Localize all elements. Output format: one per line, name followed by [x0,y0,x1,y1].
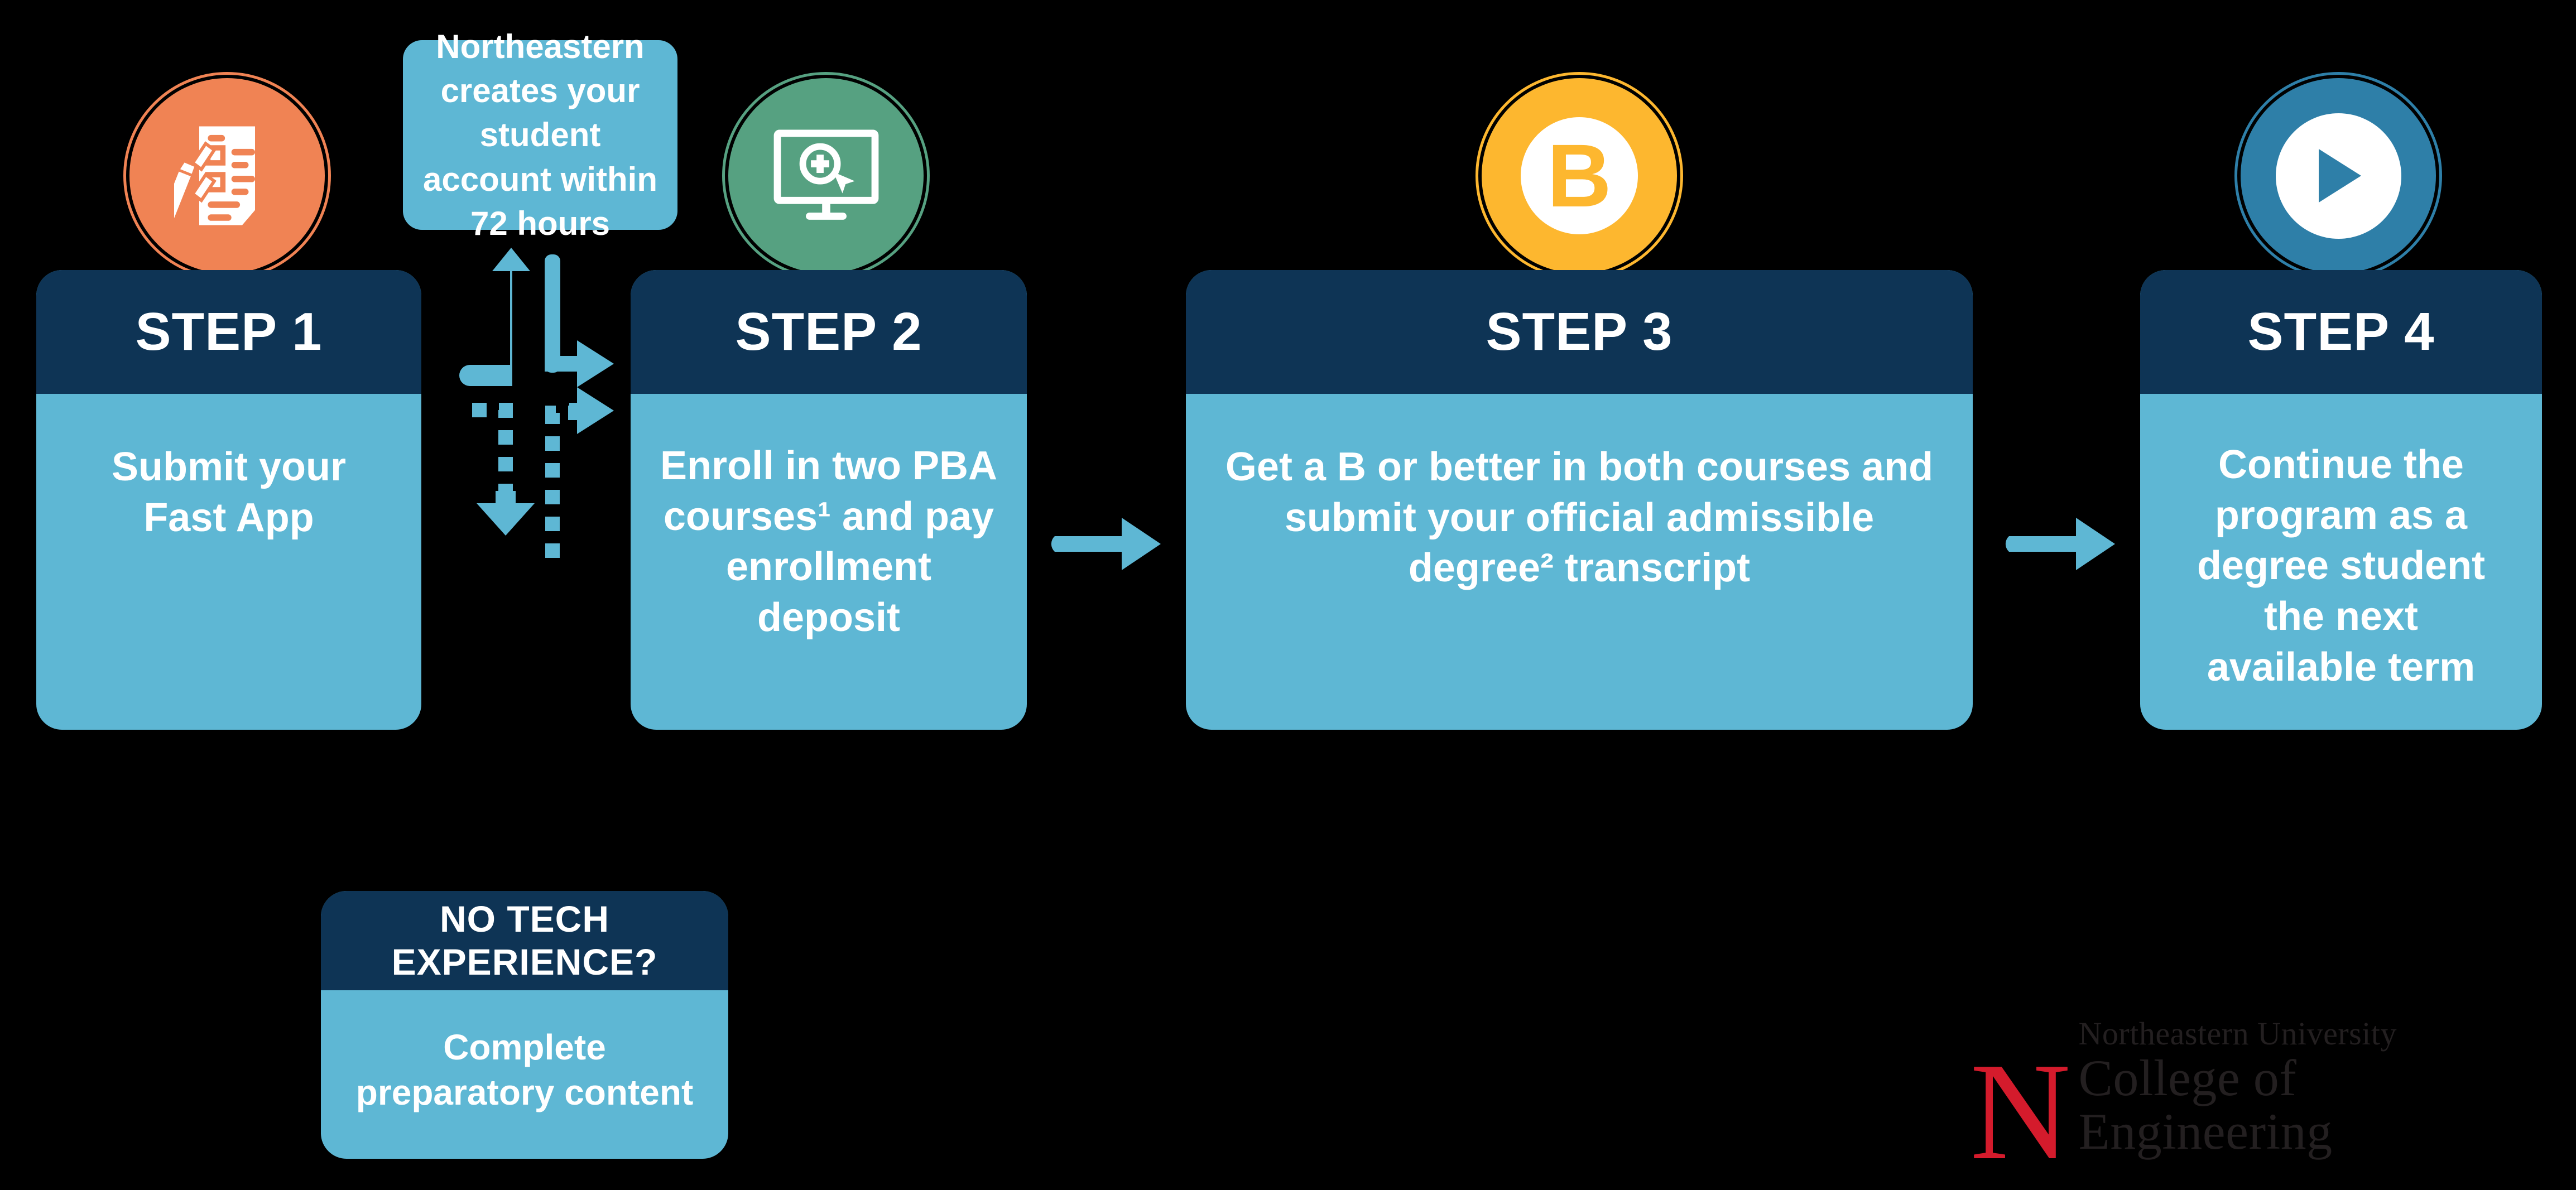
step-1-badge [129,78,325,273]
step-2-body: Enroll in two PBA courses¹ and pay enrol… [631,394,1027,643]
northeastern-n-monogram: N [1970,1054,2071,1169]
right-arrow-step3-to-step4 [2003,508,2121,580]
step-1-card[interactable]: STEP 1 Submit your Fast App [36,270,421,730]
step-3-description: Get a B or better in both courses and su… [1225,445,1933,590]
northeastern-logo-text: Northeastern University College of Engin… [2079,1017,2561,1169]
step-2-title: STEP 2 [735,305,922,359]
step-2-card[interactable]: STEP 2 Enroll in two PBA courses¹ and pa… [631,270,1027,730]
right-arrow-step1-to-step2 [545,254,614,387]
step-1-description: Submit your Fast App [112,445,346,540]
step-4-header: STEP 4 [2140,270,2542,394]
step-4-badge-ring [2234,72,2442,280]
tooltip-text: Northeastern creates your student accoun… [414,25,666,245]
step-4-body: Continue the program as a degree student… [2140,394,2542,693]
step-1-title: STEP 1 [135,305,322,359]
step-4-card[interactable]: STEP 4 Continue the program as a degree … [2140,270,2542,730]
step-2-header: STEP 2 [631,270,1027,394]
no-tech-experience-body: Complete preparatory content [321,990,728,1115]
no-tech-experience-card[interactable]: NO TECH EXPERIENCE? Complete preparatory… [321,891,728,1159]
tooltip-account-creation: Northeastern creates your student accoun… [403,40,677,230]
step-3-badge: B [1482,78,1677,273]
no-tech-experience-header: NO TECH EXPERIENCE? [321,891,728,990]
step-2-badge-ring [722,72,930,280]
step-1-body: Submit your Fast App [36,394,421,543]
no-tech-experience-title: NO TECH EXPERIENCE? [392,898,658,983]
down-arrow-to-no-tech [472,410,535,536]
step-4-badge [2241,78,2436,273]
step-3-header: STEP 3 [1186,270,1973,394]
step-4-description: Continue the program as a degree student… [2197,442,2485,690]
step-3-body: Get a B or better in both courses and su… [1186,394,1973,594]
step-2-description: Enroll in two PBA courses¹ and pay enrol… [660,444,997,640]
northeastern-logo: N Northeastern University College of Eng… [1970,1024,2561,1169]
no-tech-experience-description: Complete preparatory content [356,1027,694,1112]
step-4-title: STEP 4 [2247,305,2434,359]
step-1-badge-ring [123,72,331,280]
step-1-header: STEP 1 [36,270,421,394]
infographic-canvas: Northeastern creates your student accoun… [0,0,2576,1190]
logo-university-name: Northeastern University [2079,1017,2561,1051]
up-arrow-step1 [459,248,530,386]
right-arrow-step2-to-step3 [1049,508,1166,580]
logo-college-name: College of Engineering [2079,1051,2561,1159]
arrow-cluster-step1-step2 [458,245,636,870]
step-2-badge [728,78,924,273]
step-3-card[interactable]: STEP 3 Get a B or better in both courses… [1186,270,1973,730]
right-arrow-no-tech-to-step2 [552,387,614,558]
step-3-title: STEP 3 [1486,305,1673,359]
step-3-badge-ring [1476,72,1683,280]
